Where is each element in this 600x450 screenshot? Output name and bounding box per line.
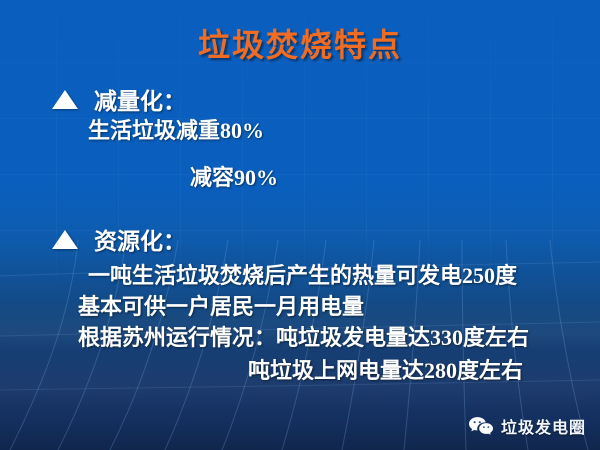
watermark: 垃圾发电圈 <box>468 414 586 438</box>
body-line-power-per-ton: 一吨生活垃圾焚烧后产生的热量可发电250度 <box>88 258 517 290</box>
triangle-up-icon <box>52 90 78 109</box>
body-line-grid-supply: 吨垃圾上网电量达280度左右 <box>248 353 523 385</box>
body-line-volume-reduction: 减容90% <box>190 160 278 192</box>
wechat-icon <box>468 416 494 436</box>
triangle-up-icon <box>52 230 78 249</box>
slide-canvas: 垃圾焚烧特点 减量化： 生活垃圾减重80% 减容90% 资源化： 一吨生活垃圾焚… <box>0 0 600 450</box>
bullet-label-resource: 资源化： <box>94 222 186 256</box>
watermark-label: 垃圾发电圈 <box>501 414 586 438</box>
body-line-suzhou-generation: 根据苏州运行情况：吨垃圾发电量达330度左右 <box>78 320 529 352</box>
bullet-label-reduction: 减量化： <box>94 82 186 116</box>
body-line-weight-reduction: 生活垃圾减重80% <box>88 113 264 145</box>
page-title: 垃圾焚烧特点 <box>0 20 600 66</box>
body-line-household-month: 基本可供一户居民一月用电量 <box>78 289 364 321</box>
bullet-row-resource: 资源化： <box>52 222 186 256</box>
bullet-row-reduction: 减量化： <box>52 82 186 116</box>
